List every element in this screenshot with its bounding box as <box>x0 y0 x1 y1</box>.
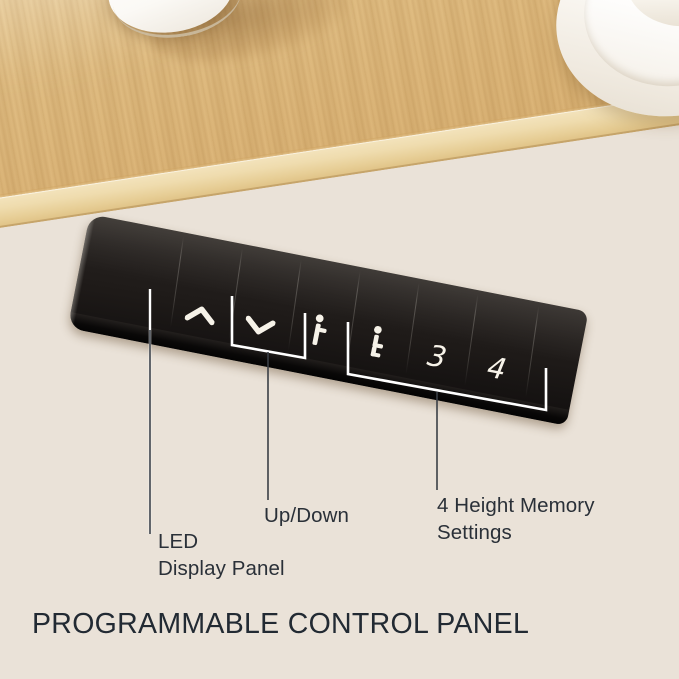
sitting-person-icon <box>365 324 392 363</box>
product-photo-scene: 3 4 LED Display Panel Up/Down 4 Height M… <box>0 0 679 679</box>
memory-4-label: 4 <box>485 350 510 387</box>
standing-person-icon <box>306 313 333 352</box>
control-panel[interactable]: 3 4 <box>68 214 589 426</box>
chevron-down-icon <box>242 315 275 341</box>
annotation-label-led: LED Display Panel <box>158 528 285 583</box>
annotation-label-updown: Up/Down <box>264 502 349 529</box>
page-title: PROGRAMMABLE CONTROL PANEL <box>32 608 529 641</box>
chevron-up-icon <box>184 303 217 329</box>
memory-3-label: 3 <box>425 338 450 375</box>
annotation-label-memory: 4 Height Memory Settings <box>437 492 595 547</box>
